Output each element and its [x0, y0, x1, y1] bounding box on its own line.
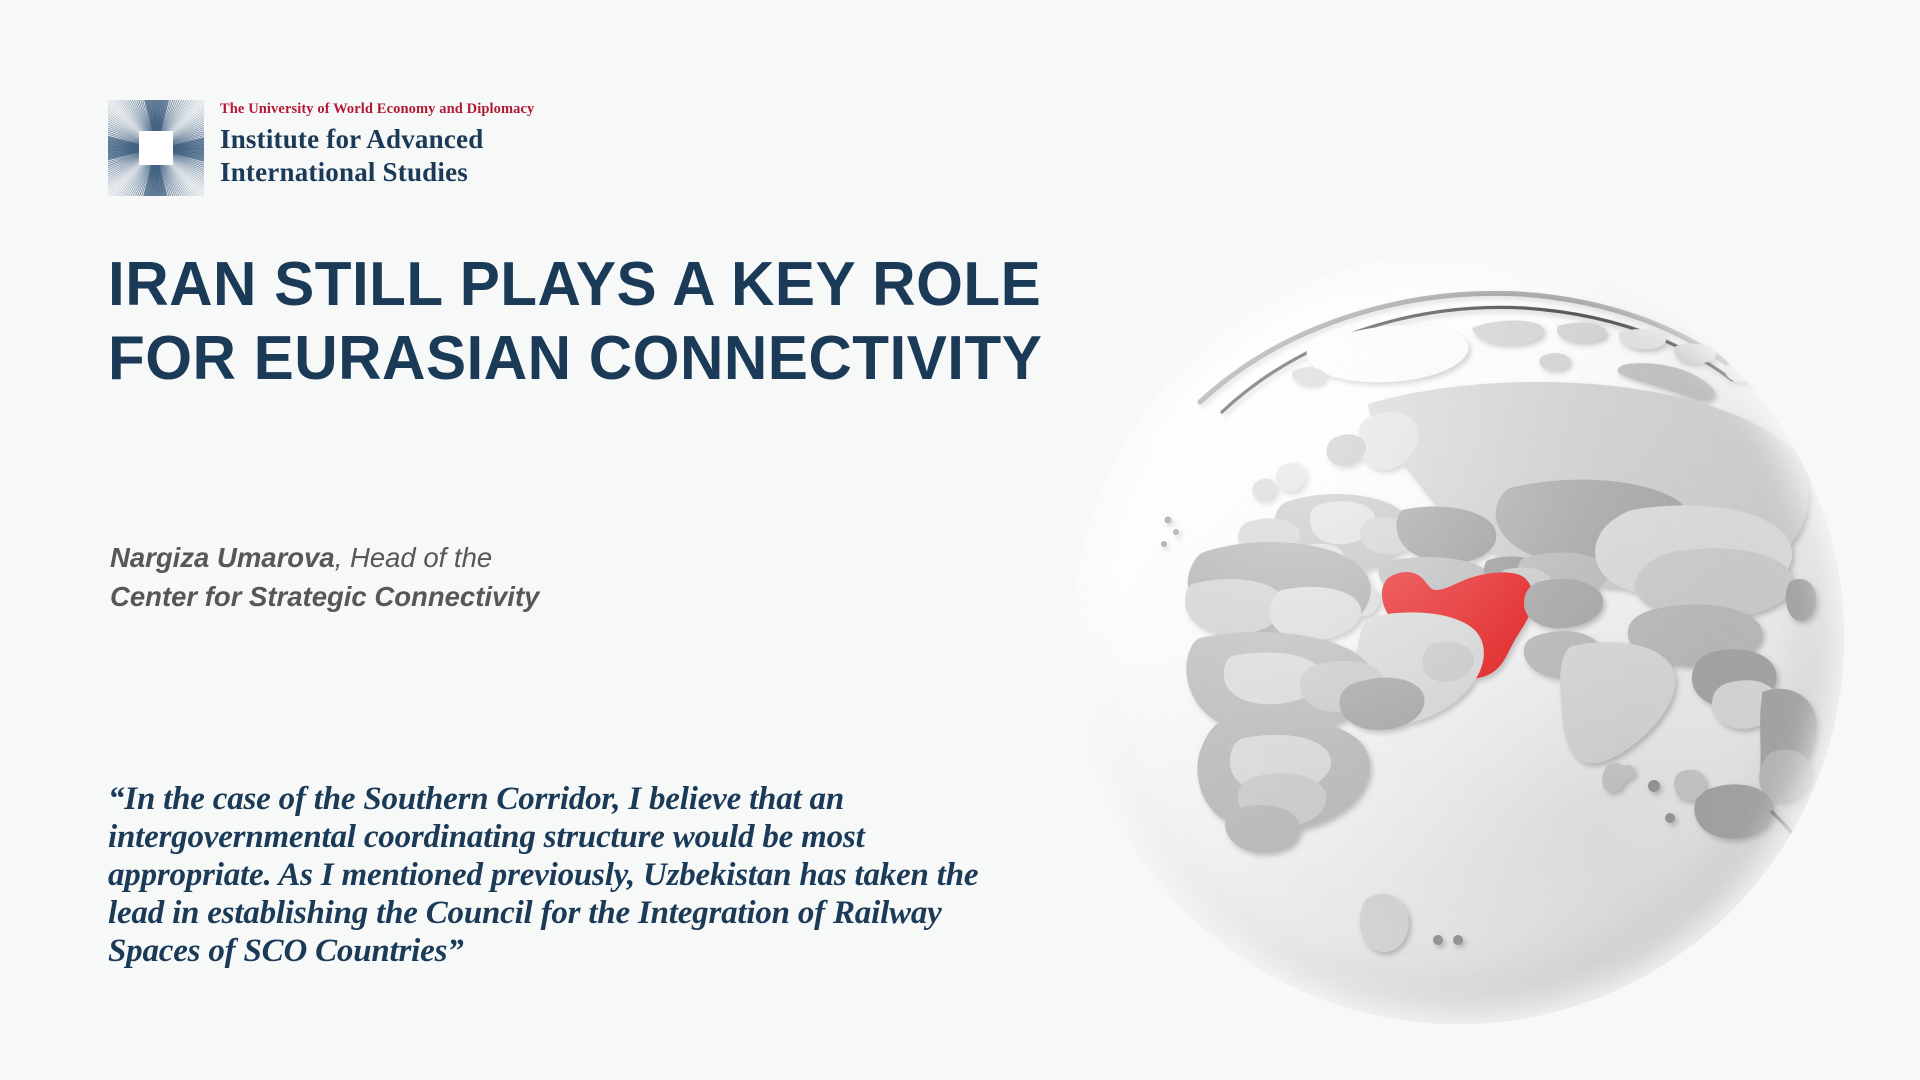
institution-logo-block: The University of World Economy and Dipl…	[108, 100, 534, 196]
landmasses	[1161, 293, 1829, 952]
author-role: , Head of the	[335, 542, 492, 573]
institute-name-line-2: International Studies	[220, 156, 534, 189]
author-byline: Nargiza Umarova, Head of the Center for …	[110, 538, 870, 616]
logo-text-block: The University of World Economy and Dipl…	[220, 100, 534, 189]
page-title-line-1: IRAN STILL PLAYS A KEY ROLE	[108, 248, 1156, 322]
globe-illustration	[1072, 252, 1844, 1024]
presentation-slide: The University of World Economy and Dipl…	[0, 0, 1920, 1080]
page-title-line-2: FOR EURASIAN CONNECTIVITY	[108, 322, 1156, 396]
university-name: The University of World Economy and Dipl…	[220, 101, 534, 118]
institute-name-line-1: Institute for Advanced	[220, 123, 534, 156]
logo-center-square	[139, 131, 173, 165]
radial-burst-square-logo-icon	[108, 100, 204, 196]
globe-map-svg	[1072, 252, 1844, 1024]
author-organization: Center for Strategic Connectivity	[110, 577, 870, 616]
pull-quote: “In the case of the Southern Corridor, I…	[108, 780, 1008, 970]
globe-sphere	[1072, 252, 1844, 1024]
page-title: IRAN STILL PLAYS A KEY ROLE FOR EURASIAN…	[108, 248, 1188, 396]
author-name: Nargiza Umarova	[110, 542, 335, 573]
